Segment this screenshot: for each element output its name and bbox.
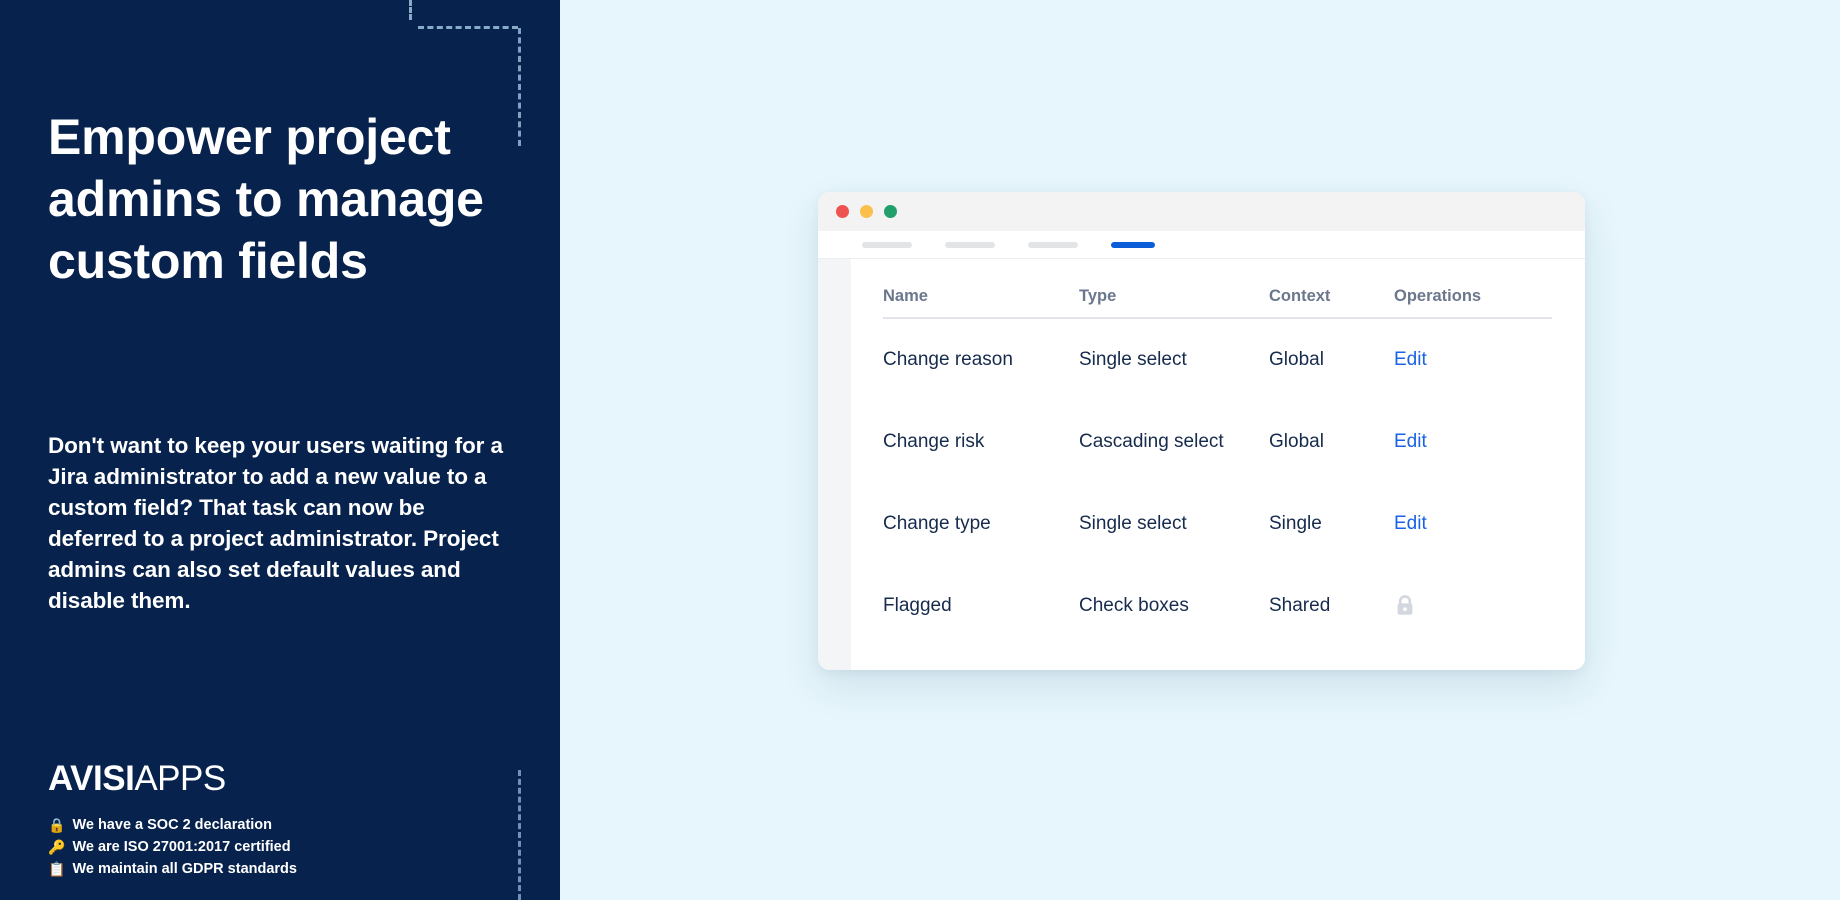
- promo-description: Don't want to keep your users waiting fo…: [48, 430, 518, 616]
- cell-field-name: Flagged: [883, 565, 1079, 647]
- compliance-badge-list: 🔒 We have a SOC 2 declaration 🔑 We are I…: [48, 814, 518, 880]
- cell-field-name: Impact: [883, 647, 1079, 670]
- clipboard-emoji-icon: 📋: [48, 858, 65, 880]
- table-header-row: Name Type Context Operations: [883, 259, 1552, 318]
- close-window-dot[interactable]: [836, 205, 849, 218]
- cell-field-context: Shared: [1269, 565, 1394, 647]
- cell-operations: Edit: [1394, 318, 1552, 401]
- cell-field-name: Change reason: [883, 318, 1079, 401]
- page-root: Empower project admins to manage custom …: [0, 0, 1840, 900]
- cell-operations: Edit: [1394, 401, 1552, 483]
- badge-label: We are ISO 27001:2017 certified: [72, 836, 290, 858]
- column-header-context: Context: [1269, 259, 1394, 318]
- table-row: Impact Single select Global Edit: [883, 647, 1552, 670]
- left-promo-panel: Empower project admins to manage custom …: [0, 0, 560, 900]
- cell-field-type: Single select: [1079, 318, 1269, 401]
- table-row: Flagged Check boxes Shared: [883, 565, 1552, 647]
- list-item: 🔑 We are ISO 27001:2017 certified: [48, 836, 518, 858]
- cell-operations: Edit: [1394, 483, 1552, 565]
- table-row: Change reason Single select Global Edit: [883, 318, 1552, 401]
- custom-fields-content: Name Type Context Operations Change reas…: [851, 259, 1585, 670]
- app-sidebar-rail: [818, 259, 851, 670]
- browser-content-area: Name Type Context Operations Change reas…: [818, 259, 1585, 670]
- browser-window-mockup: Name Type Context Operations Change reas…: [818, 192, 1585, 670]
- custom-fields-table: Name Type Context Operations Change reas…: [883, 259, 1552, 670]
- tab-placeholder-4-active[interactable]: [1111, 242, 1155, 248]
- column-header-type: Type: [1079, 259, 1269, 318]
- column-header-operations: Operations: [1394, 259, 1552, 318]
- cell-field-context: Global: [1269, 318, 1394, 401]
- list-item: 📋 We maintain all GDPR standards: [48, 858, 518, 880]
- minimize-window-dot[interactable]: [860, 205, 873, 218]
- dashed-decoration-top-left: [409, 0, 412, 20]
- cell-field-type: Cascading select: [1079, 401, 1269, 483]
- dashed-decoration-top-vertical: [518, 28, 521, 146]
- dashed-decoration-top-horizontal: [418, 26, 518, 29]
- tab-placeholder-3[interactable]: [1028, 242, 1078, 248]
- lock-icon: [1394, 594, 1416, 618]
- maximize-window-dot[interactable]: [884, 205, 897, 218]
- edit-link[interactable]: Edit: [1394, 513, 1427, 534]
- table-row: Change type Single select Single Edit: [883, 483, 1552, 565]
- logo-avisi-text: AVISI: [48, 759, 134, 798]
- cell-field-name: Change type: [883, 483, 1079, 565]
- badge-label: We have a SOC 2 declaration: [72, 814, 272, 836]
- cell-field-name: Change risk: [883, 401, 1079, 483]
- avisi-apps-logo: AVISIAPPS: [48, 761, 226, 796]
- key-emoji-icon: 🔑: [48, 836, 65, 858]
- cell-operations: Edit: [1394, 647, 1552, 670]
- dashed-decoration-bottom-vertical: [518, 770, 521, 900]
- edit-link[interactable]: Edit: [1394, 431, 1427, 452]
- cell-field-context: Single: [1269, 483, 1394, 565]
- cell-operations-locked: [1394, 565, 1552, 647]
- column-header-name: Name: [883, 259, 1079, 318]
- list-item: 🔒 We have a SOC 2 declaration: [48, 814, 518, 836]
- browser-tabbar: [818, 231, 1585, 259]
- cell-field-type: Single select: [1079, 483, 1269, 565]
- cell-field-context: Global: [1269, 647, 1394, 670]
- logo-apps-text: APPS: [134, 759, 225, 798]
- cell-field-context: Global: [1269, 401, 1394, 483]
- edit-link[interactable]: Edit: [1394, 349, 1427, 370]
- tab-placeholder-1[interactable]: [862, 242, 912, 248]
- browser-titlebar: [818, 192, 1585, 231]
- badge-label: We maintain all GDPR standards: [72, 858, 297, 880]
- page-title: Empower project admins to manage custom …: [48, 106, 488, 292]
- lock-emoji-icon: 🔒: [48, 814, 65, 836]
- cell-field-type: Check boxes: [1079, 565, 1269, 647]
- tab-placeholder-2[interactable]: [945, 242, 995, 248]
- table-row: Change risk Cascading select Global Edit: [883, 401, 1552, 483]
- cell-field-type: Single select: [1079, 647, 1269, 670]
